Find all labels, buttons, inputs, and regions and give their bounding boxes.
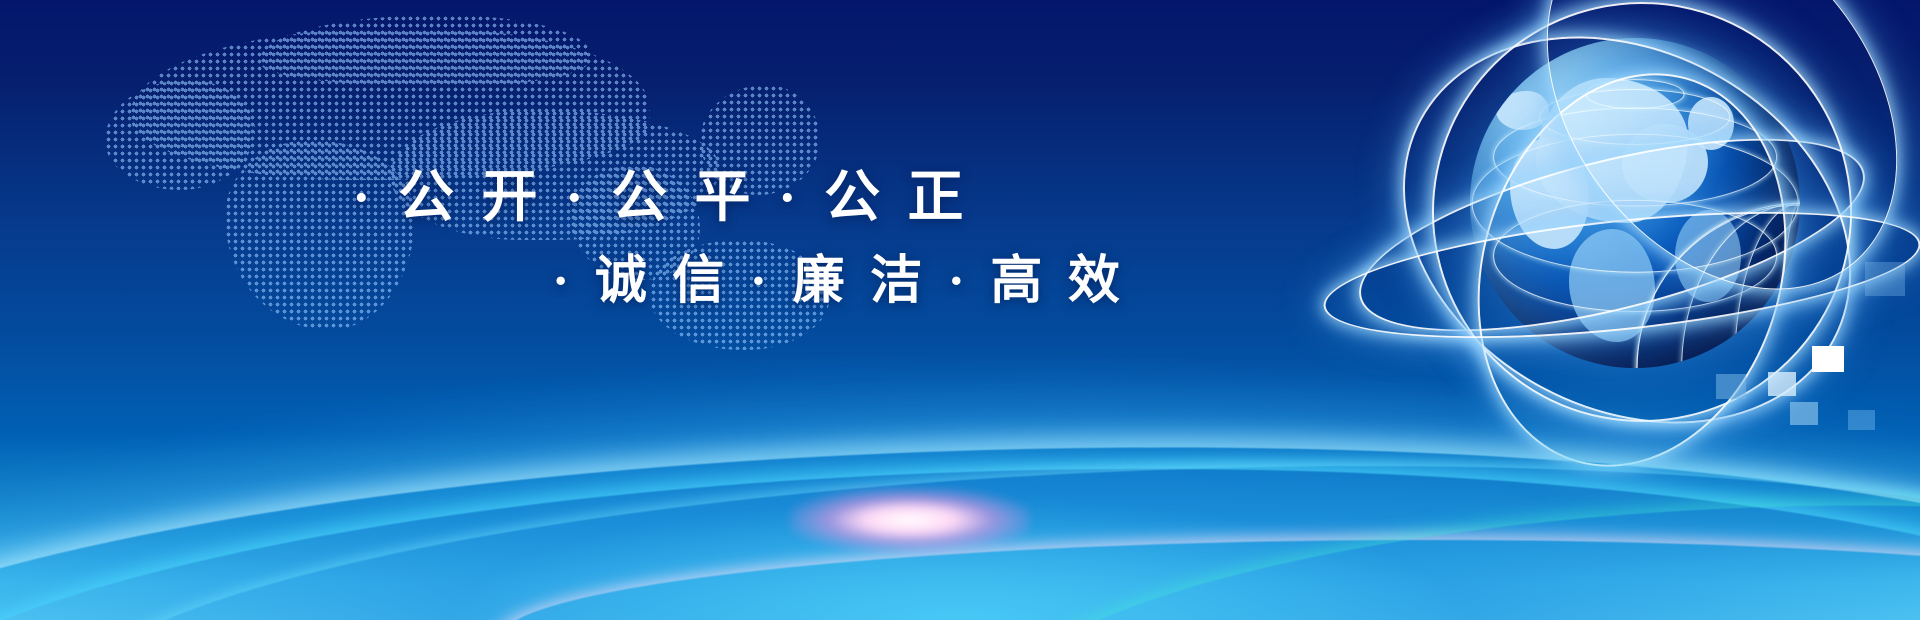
decorative-square-3 [1768,372,1796,396]
wave-streak-lavender-band [637,537,1920,620]
decorative-square-4 [1716,374,1746,399]
wave-streak-cyan-upper [0,445,1920,620]
decorative-square-1 [1865,262,1905,296]
map-landmass-africa [225,140,415,330]
wave-streak-pink-b [357,496,1920,620]
wave-streak-base-cyan [0,481,1920,620]
map-landmass-east-asia [700,85,820,195]
wave-streak-teal-right [992,471,1920,620]
wave-streak-white-thin [500,537,1920,620]
slogan-line-2: · 诚 信 · 廉 洁 · 高 效 [552,238,1126,313]
map-landmass-north-eurasia [260,15,590,85]
map-landmass-south-asia [570,165,700,280]
map-landmass-eurasia [130,30,650,180]
wave-glow-hotspot [790,488,1030,552]
wave-streak-pink-c [557,504,1920,620]
decorative-square-2 [1812,346,1844,372]
map-landmass-europe [105,80,255,190]
banner-root: · 公 开 · 公 平 · 公 正 · 诚 信 · 廉 洁 · 高 效 [0,0,1920,620]
decorative-square-5 [1790,402,1818,425]
slogan-block: · 公 开 · 公 平 · 公 正 · 诚 信 · 廉 洁 · 高 效 [0,0,1250,400]
slogan-line-1: · 公 开 · 公 平 · 公 正 [352,152,970,233]
map-landmass-australia [650,240,830,350]
decorative-square-6 [1848,410,1875,430]
map-landmass-central-asia [390,110,720,240]
wave-streak-pink-a [418,493,1920,620]
dotted-world-map [10,0,830,390]
